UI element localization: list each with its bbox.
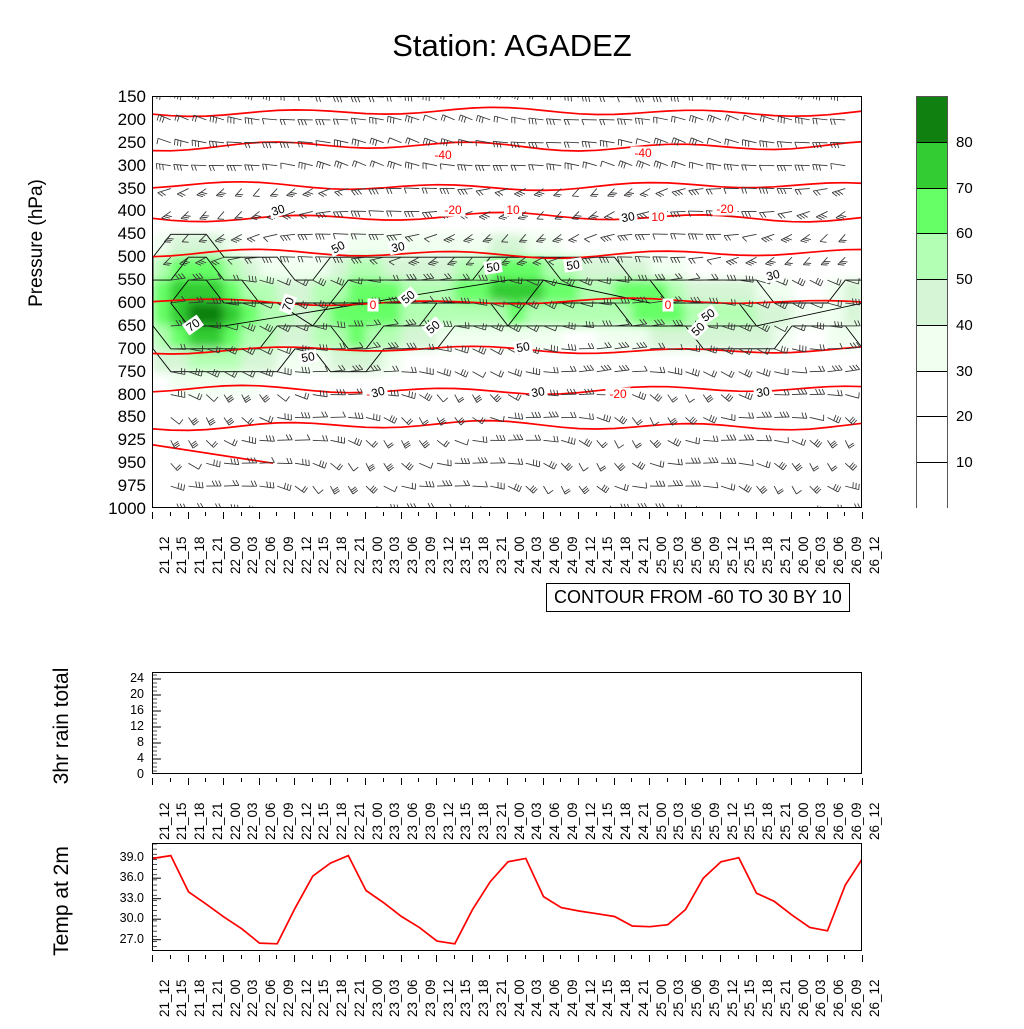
x-tick-label: 25_18 <box>761 802 775 840</box>
x-tick-label: 22_09 <box>282 536 296 574</box>
temp-plot-canvas <box>153 844 862 951</box>
x-tick-label: 26_09 <box>850 979 864 1017</box>
x-tick-label: 25_03 <box>672 979 686 1017</box>
x-tick-mark <box>702 512 703 516</box>
x-tick-label: 22_12 <box>300 802 314 840</box>
temp-tick-label: 27.0 <box>96 933 144 946</box>
x-tick-mark <box>401 512 402 519</box>
x-tick-mark <box>649 955 650 962</box>
x-tick-label: 26_00 <box>797 979 811 1017</box>
x-tick-mark <box>383 512 384 516</box>
contour-label: 30 <box>528 384 548 401</box>
x-tick-mark <box>720 778 721 785</box>
x-tick-mark <box>631 512 632 516</box>
pressure-tick-label: 600 <box>102 294 146 311</box>
x-tick-label: 23_12 <box>442 979 456 1017</box>
x-tick-mark <box>312 512 313 516</box>
x-tick-label: 24_03 <box>530 802 544 840</box>
x-tick-mark <box>507 955 508 962</box>
x-tick-label: 22_00 <box>229 802 243 840</box>
x-tick-mark <box>330 955 331 962</box>
x-tick-mark <box>454 512 455 516</box>
x-tick-label: 25_12 <box>726 802 740 840</box>
x-tick-mark <box>241 955 242 959</box>
x-tick-label: 21_18 <box>193 802 207 840</box>
x-tick-mark <box>596 512 597 516</box>
pressure-tick-label: 800 <box>102 386 146 403</box>
x-tick-label: 26_00 <box>797 802 811 840</box>
x-tick-mark <box>205 778 206 782</box>
x-tick-label: 22_18 <box>335 536 349 574</box>
contour-label: 0 <box>368 298 379 312</box>
x-tick-label: 21_12 <box>158 536 172 574</box>
x-tick-mark <box>383 778 384 782</box>
pressure-tick-label: 700 <box>102 340 146 357</box>
x-tick-mark <box>756 512 757 519</box>
x-tick-mark <box>844 955 845 959</box>
x-tick-label: 24_15 <box>601 536 615 574</box>
x-tick-mark <box>507 778 508 785</box>
x-tick-label: 22_21 <box>353 802 367 840</box>
x-tick-label: 25_00 <box>655 979 669 1017</box>
x-tick-label: 22_03 <box>246 979 260 1017</box>
colorbar-band <box>917 143 947 189</box>
x-tick-mark <box>489 778 490 782</box>
x-tick-label: 25_06 <box>690 536 704 574</box>
x-tick-mark <box>365 778 366 785</box>
x-tick-mark <box>756 778 757 785</box>
x-tick-label: 24_21 <box>637 536 651 574</box>
x-tick-label: 24_09 <box>566 802 580 840</box>
x-tick-mark <box>614 955 615 962</box>
x-tick-label: 25_15 <box>743 802 757 840</box>
rain-tick-label: 4 <box>104 752 144 765</box>
colorbar-tick-label: 40 <box>956 318 973 333</box>
x-tick-mark <box>188 955 189 962</box>
sounding-time-section-page: Station: AGADEZ Pressure (hPa) 150200250… <box>0 0 1024 1024</box>
x-tick-label: 26_03 <box>814 979 828 1017</box>
x-tick-label: 22_21 <box>353 536 367 574</box>
x-tick-mark <box>738 778 739 782</box>
x-tick-label: 25_09 <box>708 802 722 840</box>
x-tick-mark <box>578 512 579 519</box>
x-tick-mark <box>560 512 561 516</box>
x-tick-mark <box>649 778 650 785</box>
x-tick-label: 23_00 <box>371 536 385 574</box>
contour-label: 0 <box>663 298 674 312</box>
page-title: Station: AGADEZ <box>0 28 1024 64</box>
rain-tick-label: 16 <box>104 704 144 717</box>
x-tick-label: 23_18 <box>477 979 491 1017</box>
x-tick-label: 24_15 <box>601 802 615 840</box>
x-tick-mark <box>294 955 295 962</box>
pressure-tick-label: 650 <box>102 317 146 334</box>
x-tick-label: 22_06 <box>264 979 278 1017</box>
rain-tick-label: 0 <box>104 768 144 781</box>
x-tick-mark <box>472 512 473 519</box>
x-tick-label: 24_12 <box>584 979 598 1017</box>
rain-tick-label: 8 <box>104 736 144 749</box>
x-tick-label: 23_21 <box>495 536 509 574</box>
contour-label: 30 <box>618 209 638 226</box>
rain-y-axis-labels: 04812162024 <box>104 672 144 774</box>
pressure-tick-label: 500 <box>102 248 146 265</box>
x-tick-mark <box>738 955 739 959</box>
x-tick-label: 26_03 <box>814 802 828 840</box>
x-tick-mark <box>223 778 224 785</box>
x-tick-label: 21_15 <box>175 536 189 574</box>
x-tick-label: 22_12 <box>300 979 314 1017</box>
x-tick-label: 24_18 <box>619 979 633 1017</box>
x-tick-mark <box>170 955 171 959</box>
upper-air-time-section-plot: -40-40-20-20-20-200010103050305050507070… <box>152 96 862 508</box>
x-tick-label: 25_00 <box>655 536 669 574</box>
x-tick-label: 22_18 <box>335 979 349 1017</box>
x-tick-mark <box>667 778 668 782</box>
x-tick-label: 22_03 <box>246 536 260 574</box>
x-tick-mark <box>436 955 437 962</box>
x-tick-label: 26_12 <box>868 979 882 1017</box>
temp-tick-label: 33.0 <box>96 892 144 905</box>
x-tick-label: 26_06 <box>832 536 846 574</box>
x-tick-label: 24_12 <box>584 802 598 840</box>
x-tick-label: 23_03 <box>388 802 402 840</box>
x-tick-mark <box>454 955 455 959</box>
x-tick-mark <box>241 512 242 516</box>
x-tick-label: 24_12 <box>584 536 598 574</box>
x-tick-mark <box>223 512 224 519</box>
x-tick-label: 25_03 <box>672 802 686 840</box>
x-tick-label: 24_09 <box>566 536 580 574</box>
x-tick-label: 23_03 <box>388 536 402 574</box>
x-tick-mark <box>205 955 206 959</box>
x-tick-label: 23_18 <box>477 536 491 574</box>
colorbar-band <box>917 326 947 372</box>
x-tick-mark <box>578 778 579 785</box>
pressure-tick-label: 350 <box>102 180 146 197</box>
contour-label: 50 <box>563 257 583 273</box>
colorbar-tick-label: 10 <box>956 455 973 470</box>
x-tick-label: 22_15 <box>317 536 331 574</box>
x-tick-label: 25_21 <box>779 536 793 574</box>
x-tick-label: 25_09 <box>708 979 722 1017</box>
x-tick-mark <box>365 955 366 962</box>
rain-plot-canvas <box>153 673 862 774</box>
x-tick-label: 23_06 <box>406 979 420 1017</box>
svg-text:-40: -40 <box>634 146 652 160</box>
x-tick-label: 23_15 <box>459 979 473 1017</box>
x-tick-label: 26_09 <box>850 802 864 840</box>
x-tick-label: 21_18 <box>193 979 207 1017</box>
x-tick-label: 22_00 <box>229 536 243 574</box>
main-y-axis-labels: 1502002503003504004505005506006507007508… <box>98 96 146 508</box>
x-tick-label: 25_09 <box>708 536 722 574</box>
x-tick-mark <box>827 778 828 785</box>
x-tick-label: 21_21 <box>211 536 225 574</box>
temp-tick-label: 30.0 <box>96 912 144 925</box>
x-tick-mark <box>809 778 810 782</box>
x-tick-mark <box>418 512 419 516</box>
rain-tick-label: 12 <box>104 720 144 733</box>
x-tick-mark <box>276 778 277 782</box>
main-x-axis-labels: 21_1221_1521_1821_2122_0022_0322_0622_09… <box>152 512 866 586</box>
svg-text:0: 0 <box>665 298 672 312</box>
x-tick-label: 22_21 <box>353 979 367 1017</box>
x-tick-mark <box>720 955 721 962</box>
x-tick-mark <box>152 778 153 785</box>
colorbar-tick-label: 70 <box>956 181 973 196</box>
x-tick-label: 23_15 <box>459 802 473 840</box>
pressure-tick-label: 975 <box>102 477 146 494</box>
x-tick-mark <box>614 512 615 519</box>
x-tick-label: 22_06 <box>264 802 278 840</box>
x-tick-mark <box>773 778 774 782</box>
x-tick-label: 24_06 <box>548 979 562 1017</box>
contour-label: 30 <box>753 384 773 401</box>
x-tick-mark <box>188 778 189 785</box>
pressure-tick-label: 400 <box>102 202 146 219</box>
x-tick-label: 21_21 <box>211 979 225 1017</box>
x-tick-mark <box>862 778 863 785</box>
colorbar-labels: 8070605040302010 <box>956 96 1016 508</box>
x-tick-mark <box>667 955 668 959</box>
x-tick-mark <box>383 955 384 959</box>
x-tick-label: 21_12 <box>158 802 172 840</box>
x-tick-mark <box>596 955 597 959</box>
x-tick-mark <box>809 512 810 516</box>
x-tick-label: 21_21 <box>211 802 225 840</box>
x-tick-label: 23_18 <box>477 802 491 840</box>
x-tick-mark <box>543 778 544 785</box>
contour-label: 50 <box>483 259 503 275</box>
x-tick-label: 26_09 <box>850 536 864 574</box>
x-tick-mark <box>241 778 242 782</box>
pressure-tick-label: 1000 <box>102 500 146 517</box>
x-tick-label: 26_06 <box>832 802 846 840</box>
svg-text:50: 50 <box>515 339 531 355</box>
x-tick-mark <box>152 955 153 962</box>
x-tick-label: 24_21 <box>637 979 651 1017</box>
svg-text:10: 10 <box>651 210 665 224</box>
x-tick-mark <box>188 512 189 519</box>
svg-text:-20: -20 <box>444 203 462 217</box>
colorbar-band <box>917 417 947 463</box>
svg-text:30: 30 <box>530 384 546 400</box>
x-tick-label: 23_09 <box>424 536 438 574</box>
x-tick-label: 24_06 <box>548 802 562 840</box>
pressure-tick-label: 850 <box>102 408 146 425</box>
x-tick-mark <box>223 955 224 962</box>
svg-text:10: 10 <box>506 203 520 217</box>
x-tick-mark <box>685 955 686 962</box>
x-tick-mark <box>702 955 703 959</box>
contour-label: -20 <box>713 202 738 216</box>
rain-x-axis-labels: 21_1221_1521_1821_2122_0022_0322_0622_09… <box>152 778 866 852</box>
x-tick-mark <box>170 778 171 782</box>
colorbar-band <box>917 280 947 326</box>
x-tick-label: 23_21 <box>495 802 509 840</box>
colorbar-tick-label: 30 <box>956 364 973 379</box>
x-tick-mark <box>365 512 366 519</box>
x-tick-mark <box>347 512 348 516</box>
x-tick-mark <box>330 778 331 785</box>
contour-label: 10 <box>504 203 522 217</box>
x-tick-label: 22_15 <box>317 802 331 840</box>
x-tick-label: 25_06 <box>690 802 704 840</box>
rain-tick-label: 20 <box>104 688 144 701</box>
x-tick-mark <box>294 778 295 785</box>
x-tick-label: 25_00 <box>655 802 669 840</box>
x-tick-mark <box>170 512 171 516</box>
svg-text:0: 0 <box>370 298 377 312</box>
colorbar-band <box>917 463 947 509</box>
x-tick-label: 22_12 <box>300 536 314 574</box>
x-tick-label: 23_00 <box>371 802 385 840</box>
x-tick-mark <box>844 512 845 516</box>
x-tick-label: 24_15 <box>601 979 615 1017</box>
x-tick-label: 25_18 <box>761 536 775 574</box>
contour-label: -20 <box>606 387 631 401</box>
pressure-tick-label: 925 <box>102 431 146 448</box>
x-tick-label: 23_00 <box>371 979 385 1017</box>
x-tick-mark <box>844 778 845 782</box>
x-tick-label: 23_06 <box>406 536 420 574</box>
x-tick-mark <box>401 955 402 962</box>
x-tick-mark <box>543 955 544 962</box>
x-tick-label: 23_03 <box>388 979 402 1017</box>
colorbar <box>916 96 948 508</box>
x-tick-label: 22_09 <box>282 979 296 1017</box>
x-tick-mark <box>276 512 277 516</box>
x-tick-mark <box>791 778 792 785</box>
x-tick-mark <box>259 955 260 962</box>
svg-text:50: 50 <box>565 257 580 273</box>
x-tick-mark <box>614 778 615 785</box>
temp-y-axis-labels: 27.030.033.036.039.0 <box>96 843 144 951</box>
svg-text:50: 50 <box>300 349 316 365</box>
x-tick-label: 24_21 <box>637 802 651 840</box>
main-y-axis-title: Pressure (hPa) <box>26 138 48 348</box>
x-tick-label: 22_09 <box>282 802 296 840</box>
x-tick-mark <box>631 955 632 959</box>
contour-label: 50 <box>513 339 533 356</box>
x-tick-label: 24_00 <box>513 979 527 1017</box>
x-tick-label: 26_00 <box>797 536 811 574</box>
temp-series-line <box>153 856 862 944</box>
x-tick-mark <box>791 512 792 519</box>
x-tick-mark <box>276 955 277 959</box>
contour-label: 10 <box>649 210 667 224</box>
x-tick-label: 21_12 <box>158 979 172 1017</box>
x-tick-label: 24_00 <box>513 802 527 840</box>
x-tick-label: 23_21 <box>495 979 509 1017</box>
x-tick-mark <box>205 512 206 516</box>
rain-plot <box>152 672 862 774</box>
x-tick-label: 23_06 <box>406 802 420 840</box>
pressure-tick-label: 550 <box>102 271 146 288</box>
x-tick-label: 26_06 <box>832 979 846 1017</box>
x-tick-mark <box>578 955 579 962</box>
x-tick-mark <box>862 955 863 962</box>
x-tick-mark <box>259 778 260 785</box>
x-tick-label: 23_12 <box>442 536 456 574</box>
temp-tick-label: 36.0 <box>96 871 144 884</box>
x-tick-label: 25_15 <box>743 536 757 574</box>
x-tick-mark <box>401 778 402 785</box>
x-tick-mark <box>685 778 686 785</box>
x-tick-mark <box>507 512 508 519</box>
x-tick-label: 23_09 <box>424 979 438 1017</box>
x-tick-mark <box>489 955 490 959</box>
x-tick-label: 25_15 <box>743 979 757 1017</box>
x-tick-mark <box>543 512 544 519</box>
x-tick-mark <box>827 955 828 962</box>
x-tick-label: 22_15 <box>317 979 331 1017</box>
temp-tick-label: 39.0 <box>96 851 144 864</box>
x-tick-mark <box>347 955 348 959</box>
colorbar-tick-label: 50 <box>956 272 973 287</box>
svg-text:30: 30 <box>620 209 636 225</box>
x-tick-mark <box>773 512 774 516</box>
contour-label: -40 <box>631 146 656 160</box>
pressure-tick-label: 450 <box>102 225 146 242</box>
x-tick-mark <box>312 955 313 959</box>
pressure-tick-label: 200 <box>102 111 146 128</box>
x-tick-label: 22_18 <box>335 802 349 840</box>
x-tick-mark <box>525 512 526 516</box>
x-tick-mark <box>436 512 437 519</box>
x-tick-mark <box>347 778 348 782</box>
x-tick-mark <box>631 778 632 782</box>
svg-text:30: 30 <box>755 384 771 400</box>
x-tick-label: 26_12 <box>868 802 882 840</box>
x-tick-label: 22_03 <box>246 802 260 840</box>
x-tick-mark <box>525 955 526 959</box>
x-tick-mark <box>596 778 597 782</box>
x-tick-label: 25_21 <box>779 802 793 840</box>
x-tick-label: 22_06 <box>264 536 278 574</box>
rain-tick-label: 24 <box>104 672 144 685</box>
x-tick-mark <box>330 512 331 519</box>
x-tick-mark <box>685 512 686 519</box>
x-tick-mark <box>489 512 490 516</box>
svg-text:50: 50 <box>485 259 500 275</box>
temp-plot <box>152 843 862 951</box>
x-tick-mark <box>809 955 810 959</box>
x-tick-mark <box>312 778 313 782</box>
x-tick-label: 24_18 <box>619 802 633 840</box>
colorbar-tick-label: 80 <box>956 135 973 150</box>
x-tick-mark <box>756 955 757 962</box>
x-tick-label: 24_09 <box>566 979 580 1017</box>
svg-text:-20: -20 <box>609 387 627 401</box>
x-tick-mark <box>827 512 828 519</box>
x-tick-label: 23_09 <box>424 802 438 840</box>
x-tick-label: 25_12 <box>726 536 740 574</box>
colorbar-tick-label: 20 <box>956 409 973 424</box>
x-tick-label: 25_03 <box>672 536 686 574</box>
svg-text:-40: -40 <box>434 148 452 162</box>
x-tick-mark <box>294 512 295 519</box>
x-tick-label: 21_15 <box>175 979 189 1017</box>
x-tick-mark <box>649 512 650 519</box>
x-tick-label: 21_15 <box>175 802 189 840</box>
colorbar-band <box>917 234 947 280</box>
contour-legend-box: CONTOUR FROM -60 TO 30 BY 10 <box>546 583 850 612</box>
x-tick-label: 24_00 <box>513 536 527 574</box>
x-tick-label: 24_18 <box>619 536 633 574</box>
x-tick-label: 24_06 <box>548 536 562 574</box>
